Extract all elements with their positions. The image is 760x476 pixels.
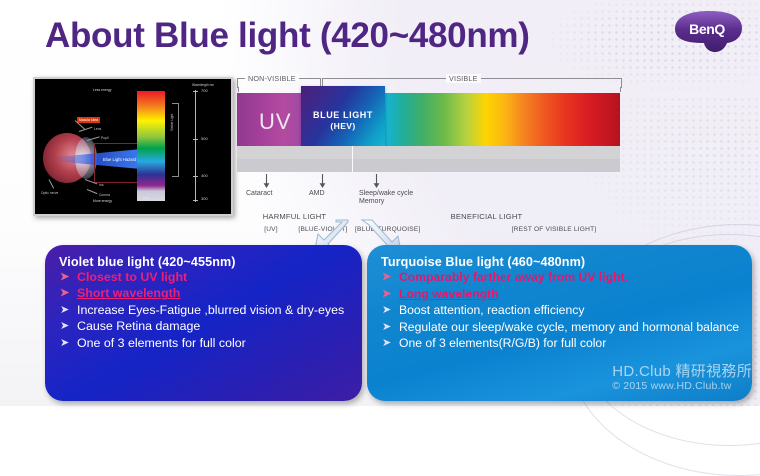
spectrum-uv-label: UV <box>259 109 292 135</box>
list-item: ➤Boost attention, reaction efficiency <box>379 303 740 319</box>
page-title: About Blue light (420~480nm) <box>45 16 530 56</box>
chevron-right-icon: ➤ <box>60 270 69 285</box>
violet-card-title: Violet blue light (420~455nm) <box>59 255 350 269</box>
svg-text:BenQ: BenQ <box>689 21 725 37</box>
list-item: ➤One of 3 elements(R/G/B) for full color <box>379 336 740 352</box>
blue-light-hev-callout: BLUE LIGHT (HEV) <box>301 86 385 154</box>
less-energy-label: Less energy <box>93 88 111 92</box>
wavelength-tick <box>193 139 198 140</box>
macula-lutea-tag: Macula lutea <box>77 117 100 123</box>
wavelength-tick <box>193 200 198 201</box>
optic-nerve-leader-line <box>49 179 55 188</box>
wavelength-tick-300: 300 <box>201 196 208 201</box>
eye-label-cornea: Cornea <box>99 193 110 197</box>
annotation-memory: Memory <box>359 198 384 207</box>
wavelength-tick <box>193 176 198 177</box>
blue-light-hazard-label: Blue Light Hazard <box>103 157 136 162</box>
wavelength-axis-title: Wavelength nm <box>192 83 214 87</box>
strip-uv-label: UV <box>143 195 149 200</box>
list-item: ➤Long wavelength <box>379 287 740 303</box>
list-item: ➤Regulate our sleep/wake cycle, memory a… <box>379 320 740 336</box>
turquoise-card-title: Turquoise Blue light (460~480nm) <box>381 255 740 269</box>
wavelength-tick-500: 500 <box>201 136 208 141</box>
wavelength-tick <box>193 91 198 92</box>
chevron-right-icon: ➤ <box>60 336 69 351</box>
chevron-right-icon: ➤ <box>382 303 391 319</box>
wavelength-axis <box>195 90 196 202</box>
list-item: ➤One of 3 elements for full color <box>57 336 350 351</box>
wavelength-tick-700: 700 <box>201 88 208 93</box>
hev-label-line1: BLUE LIGHT <box>313 109 373 121</box>
benq-logo: BenQ <box>669 9 747 55</box>
list-item: ➤Comparably farther away from UV light. <box>379 270 740 286</box>
visible-spectrum-bar <box>237 93 620 146</box>
spectrum-bracket-row: NON-VISIBLE VISIBLE <box>237 74 620 90</box>
chevron-right-icon: ➤ <box>60 319 69 334</box>
eye-label-optic-nerve: Optic nerve <box>41 191 58 195</box>
violet-card-bullet-list: ➤Closest to UV light ➤Short wavelength ➤… <box>57 270 350 351</box>
more-energy-label: More energy <box>93 199 112 203</box>
chevron-right-icon: ➤ <box>382 270 391 286</box>
eye-label-iris: Iris <box>99 183 104 187</box>
turquoise-card-bullet-list: ➤Comparably farther away from UV light. … <box>379 270 740 352</box>
annotation-cataract: Cataract <box>246 190 272 199</box>
chevron-right-icon: ➤ <box>382 320 391 336</box>
visible-light-bracket-label: Visible Light <box>170 114 174 131</box>
eye-label-lens: Lens <box>94 127 101 131</box>
spectrum-infographic: NON-VISIBLE VISIBLE UV BLUE LIGHT (HEV) … <box>237 74 620 214</box>
arrow-down-icon <box>372 174 381 188</box>
violet-blue-light-card: Violet blue light (420~455nm) ➤Closest t… <box>45 245 362 401</box>
visible-bracket-label: VISIBLE <box>446 74 481 83</box>
lens-leader-line <box>79 127 93 132</box>
list-item: ➤Cause Retina damage <box>57 319 350 334</box>
arrow-down-icon <box>262 174 271 188</box>
slide-canvas: About Blue light (420~480nm) BenQ Blue L… <box>0 0 760 406</box>
chevron-right-icon: ➤ <box>60 303 69 318</box>
list-item: ➤Increase Eyes-Fatigue ,blurred vision &… <box>57 303 350 318</box>
turquoise-blue-light-card: Turquoise Blue light (460~480nm) ➤Compar… <box>367 245 752 401</box>
annotation-amd: AMD <box>309 190 325 199</box>
eye-anatomy-image: Blue Light Hazard Macula lutea Lens Pupi… <box>33 77 233 216</box>
list-item: ➤Closest to UV light <box>57 270 350 285</box>
spectrum-strip <box>137 91 165 201</box>
chevron-right-icon: ➤ <box>382 287 391 303</box>
hev-label-line2: (HEV) <box>330 121 355 132</box>
chevron-right-icon: ➤ <box>60 286 69 301</box>
list-item: ➤Short wavelength <box>57 286 350 301</box>
wavelength-tick-400: 400 <box>201 173 208 178</box>
arrow-down-icon <box>318 174 327 188</box>
cornea-leader-line <box>87 189 98 194</box>
chevron-right-icon: ➤ <box>382 336 391 352</box>
eye-label-pupil: Pupil <box>101 136 109 140</box>
non-visible-bracket-label: NON-VISIBLE <box>245 74 299 83</box>
